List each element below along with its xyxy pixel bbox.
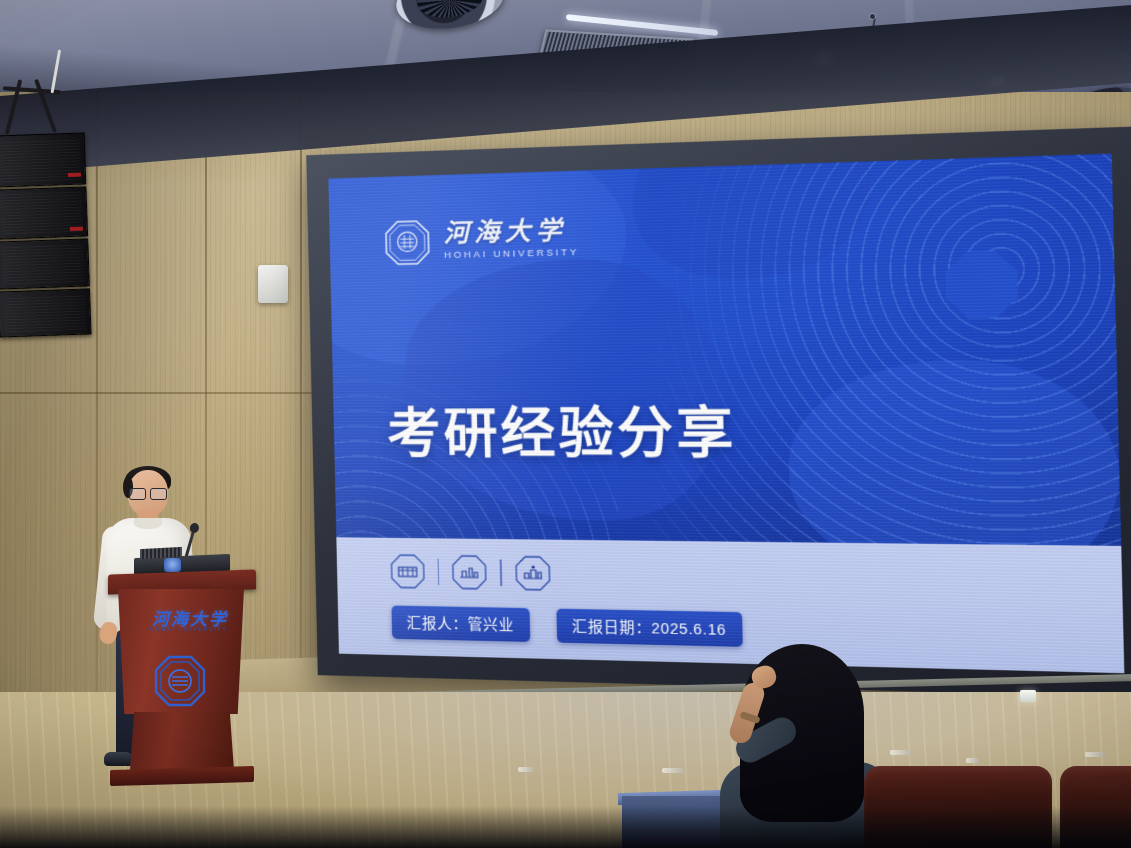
speaker-brand-label [70,227,83,231]
floor-object [518,767,534,772]
speaker-cabinet [0,238,90,289]
speaker-cabinet [0,288,92,337]
slide-canvas: 河海大学 HOHAI UNIVERSITY 考研经验分享 [328,154,1124,674]
sprinkler-head-icon [870,14,875,19]
floor-light-reflection [1020,690,1036,702]
logo-name-cn: 河海大学 [443,218,579,247]
podium-base [110,766,254,786]
podium-monitor-icon [164,558,181,572]
logo-name-en: HOHAI UNIVERSITY [444,248,579,261]
octagon-building-badge-icon [515,556,551,591]
podium-name-en: HOHAI UNIVERSITY [150,627,228,633]
octagon-building-badge-icon [452,555,487,590]
foreground-shadow [0,806,1131,848]
raised-arm [718,672,804,776]
floor-object [890,750,912,755]
podium: 河海大学 HOHAI UNIVERSITY [112,572,252,792]
eyeglasses-icon [129,488,167,498]
hohai-octagonal-seal-icon [154,655,206,707]
presenter-pill: 汇报人：管兴业 [391,606,530,642]
floor-object [1085,752,1105,757]
slide-title: 考研经验分享 [387,390,738,470]
speaker-cabinet [0,186,88,239]
screen-frame: 河海大学 HOHAI UNIVERSITY 考研经验分享 [306,127,1131,698]
speaker-brand-label [68,173,81,177]
podium-front-panel: 河海大学 HOHAI UNIVERSITY [118,589,244,714]
auditorium-photo: 河海大学 HOHAI UNIVERSITY 考研经验分享 [0,0,1131,848]
wifi-access-point-icon [258,265,288,303]
slide-upper-panel [328,154,1121,549]
badge-divider [500,560,502,587]
topographic-contour-pattern [639,154,1121,549]
shirt-collar [134,518,162,529]
speaker-cabinet [0,132,86,187]
floor-object [966,758,980,763]
led-presentation-screen: 河海大学 HOHAI UNIVERSITY 考研经验分享 [306,127,1131,698]
podium-column [130,712,234,770]
line-array-loudspeaker-icon [0,132,91,335]
university-logo: 河海大学 HOHAI UNIVERSITY [384,215,579,267]
hohai-octagonal-seal-icon [384,219,431,267]
badge-divider [437,559,439,585]
badge-row [390,554,551,591]
floor-object [662,768,684,773]
octagon-building-badge-icon [390,554,425,589]
speaker-rigging [3,77,67,139]
slide-meta-row: 汇报人：管兴业 汇报日期：2025.6.16 [391,606,743,647]
report-date-pill: 汇报日期：2025.6.16 [556,609,743,647]
